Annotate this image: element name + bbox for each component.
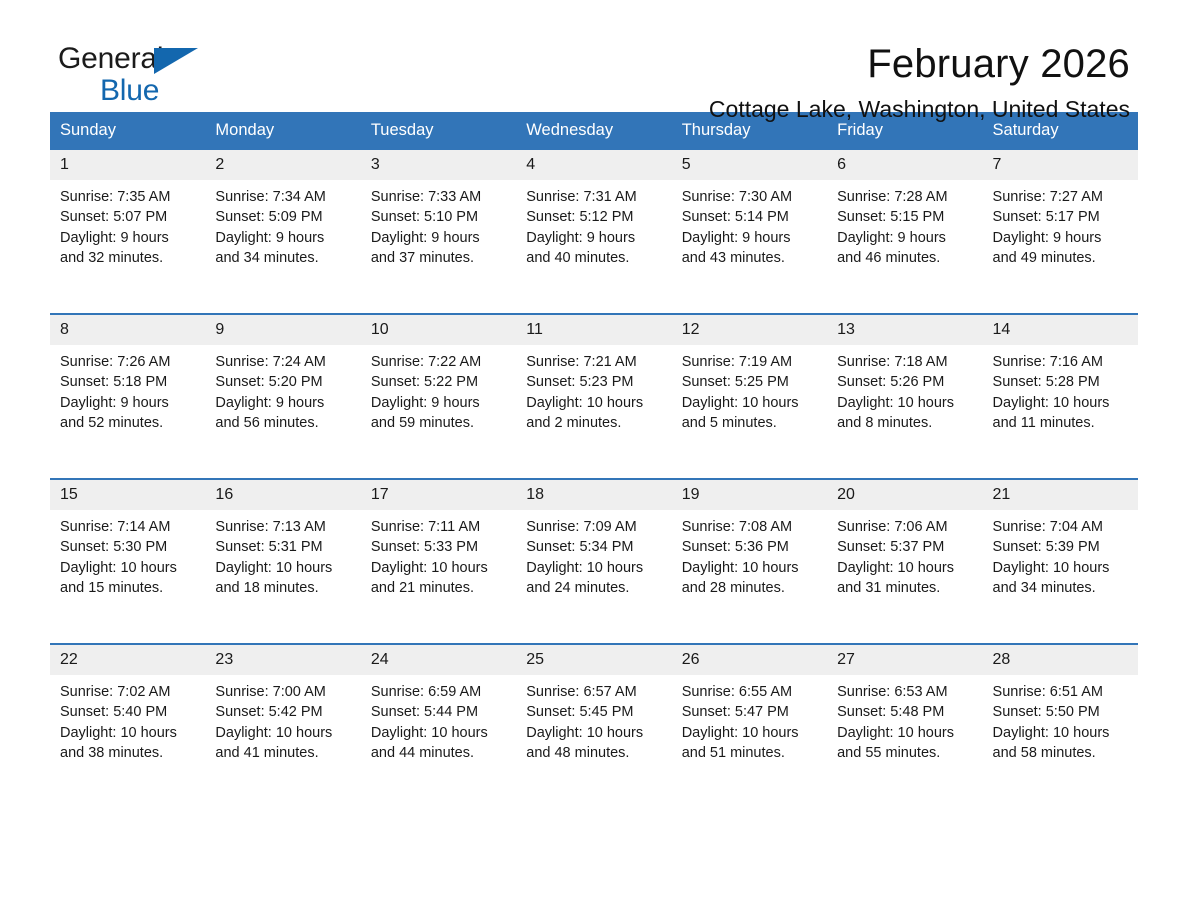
- daylight-text-line2: and 44 minutes.: [371, 743, 508, 763]
- day-cell[interactable]: 17 Sunrise: 7:11 AM Sunset: 5:33 PM Dayl…: [361, 479, 516, 644]
- sunset-text: Sunset: 5:33 PM: [371, 537, 508, 557]
- sunset-text: Sunset: 5:37 PM: [837, 537, 974, 557]
- sunset-text: Sunset: 5:22 PM: [371, 372, 508, 392]
- calendar-week-row: 1 Sunrise: 7:35 AM Sunset: 5:07 PM Dayli…: [50, 149, 1138, 314]
- day-details: Sunrise: 7:11 AM Sunset: 5:33 PM Dayligh…: [361, 510, 516, 598]
- day-cell[interactable]: 18 Sunrise: 7:09 AM Sunset: 5:34 PM Dayl…: [516, 479, 671, 644]
- sunrise-text: Sunrise: 6:51 AM: [993, 682, 1130, 702]
- daylight-text-line2: and 2 minutes.: [526, 413, 663, 433]
- day-number: 11: [516, 315, 671, 345]
- sunset-text: Sunset: 5:23 PM: [526, 372, 663, 392]
- daylight-text-line2: and 51 minutes.: [682, 743, 819, 763]
- weekday-header-monday: Monday: [205, 112, 360, 149]
- sunrise-text: Sunrise: 7:21 AM: [526, 352, 663, 372]
- daylight-text-line1: Daylight: 9 hours: [993, 228, 1130, 248]
- sunrise-text: Sunrise: 6:59 AM: [371, 682, 508, 702]
- daylight-text-line1: Daylight: 9 hours: [371, 228, 508, 248]
- sunrise-text: Sunrise: 7:13 AM: [215, 517, 352, 537]
- day-details: Sunrise: 7:21 AM Sunset: 5:23 PM Dayligh…: [516, 345, 671, 433]
- day-cell[interactable]: 14 Sunrise: 7:16 AM Sunset: 5:28 PM Dayl…: [983, 314, 1138, 479]
- daylight-text-line2: and 56 minutes.: [215, 413, 352, 433]
- daylight-text-line1: Daylight: 10 hours: [526, 393, 663, 413]
- day-number: 16: [205, 480, 360, 510]
- daylight-text-line2: and 58 minutes.: [993, 743, 1130, 763]
- daylight-text-line2: and 59 minutes.: [371, 413, 508, 433]
- sunset-text: Sunset: 5:25 PM: [682, 372, 819, 392]
- sunrise-text: Sunrise: 7:28 AM: [837, 187, 974, 207]
- day-number: 1: [50, 150, 205, 180]
- daylight-text-line1: Daylight: 10 hours: [371, 723, 508, 743]
- sunset-text: Sunset: 5:12 PM: [526, 207, 663, 227]
- day-details: Sunrise: 7:06 AM Sunset: 5:37 PM Dayligh…: [827, 510, 982, 598]
- daylight-text-line1: Daylight: 10 hours: [682, 393, 819, 413]
- sunset-text: Sunset: 5:40 PM: [60, 702, 197, 722]
- day-cell[interactable]: 21 Sunrise: 7:04 AM Sunset: 5:39 PM Dayl…: [983, 479, 1138, 644]
- day-number: 13: [827, 315, 982, 345]
- calendar-page: General Blue February 2026 Cottage Lake,…: [0, 0, 1188, 918]
- daylight-text-line2: and 18 minutes.: [215, 578, 352, 598]
- sunset-text: Sunset: 5:36 PM: [682, 537, 819, 557]
- daylight-text-line1: Daylight: 10 hours: [215, 558, 352, 578]
- sunrise-sunset-calendar: Sunday Monday Tuesday Wednesday Thursday…: [50, 112, 1138, 808]
- day-number: 18: [516, 480, 671, 510]
- sunrise-text: Sunrise: 6:57 AM: [526, 682, 663, 702]
- day-details: Sunrise: 7:27 AM Sunset: 5:17 PM Dayligh…: [983, 180, 1138, 268]
- sunrise-text: Sunrise: 7:02 AM: [60, 682, 197, 702]
- sunrise-text: Sunrise: 7:30 AM: [682, 187, 819, 207]
- day-details: Sunrise: 6:57 AM Sunset: 5:45 PM Dayligh…: [516, 675, 671, 763]
- day-number: 20: [827, 480, 982, 510]
- sunrise-text: Sunrise: 6:55 AM: [682, 682, 819, 702]
- daylight-text-line1: Daylight: 10 hours: [682, 558, 819, 578]
- day-number: 10: [361, 315, 516, 345]
- day-cell[interactable]: 20 Sunrise: 7:06 AM Sunset: 5:37 PM Dayl…: [827, 479, 982, 644]
- daylight-text-line2: and 52 minutes.: [60, 413, 197, 433]
- day-cell[interactable]: 3 Sunrise: 7:33 AM Sunset: 5:10 PM Dayli…: [361, 149, 516, 314]
- day-number: 17: [361, 480, 516, 510]
- day-cell[interactable]: 23 Sunrise: 7:00 AM Sunset: 5:42 PM Dayl…: [205, 644, 360, 808]
- daylight-text-line1: Daylight: 10 hours: [526, 723, 663, 743]
- daylight-text-line2: and 31 minutes.: [837, 578, 974, 598]
- daylight-text-line1: Daylight: 9 hours: [682, 228, 819, 248]
- logo-top-row: General: [58, 42, 258, 76]
- day-details: Sunrise: 7:16 AM Sunset: 5:28 PM Dayligh…: [983, 345, 1138, 433]
- day-details: Sunrise: 7:04 AM Sunset: 5:39 PM Dayligh…: [983, 510, 1138, 598]
- day-details: Sunrise: 7:00 AM Sunset: 5:42 PM Dayligh…: [205, 675, 360, 763]
- sunrise-text: Sunrise: 7:27 AM: [993, 187, 1130, 207]
- sunrise-text: Sunrise: 7:35 AM: [60, 187, 197, 207]
- daylight-text-line1: Daylight: 9 hours: [371, 393, 508, 413]
- weekday-header-sunday: Sunday: [50, 112, 205, 149]
- sunset-text: Sunset: 5:09 PM: [215, 207, 352, 227]
- daylight-text-line1: Daylight: 9 hours: [215, 393, 352, 413]
- day-number: 14: [983, 315, 1138, 345]
- sunrise-text: Sunrise: 7:19 AM: [682, 352, 819, 372]
- sunset-text: Sunset: 5:48 PM: [837, 702, 974, 722]
- logo-triangle-icon: [154, 48, 198, 74]
- day-details: Sunrise: 7:09 AM Sunset: 5:34 PM Dayligh…: [516, 510, 671, 598]
- weekday-header-wednesday: Wednesday: [516, 112, 671, 149]
- day-details: Sunrise: 7:35 AM Sunset: 5:07 PM Dayligh…: [50, 180, 205, 268]
- daylight-text-line1: Daylight: 10 hours: [837, 393, 974, 413]
- calendar-week-row: 22 Sunrise: 7:02 AM Sunset: 5:40 PM Dayl…: [50, 644, 1138, 808]
- day-number: 21: [983, 480, 1138, 510]
- day-number: 23: [205, 645, 360, 675]
- day-details: Sunrise: 7:30 AM Sunset: 5:14 PM Dayligh…: [672, 180, 827, 268]
- day-number: 15: [50, 480, 205, 510]
- title-block: February 2026 Cottage Lake, Washington, …: [709, 40, 1130, 124]
- day-cell[interactable]: 7 Sunrise: 7:27 AM Sunset: 5:17 PM Dayli…: [983, 149, 1138, 314]
- daylight-text-line1: Daylight: 10 hours: [371, 558, 508, 578]
- sunrise-text: Sunrise: 7:00 AM: [215, 682, 352, 702]
- daylight-text-line2: and 49 minutes.: [993, 248, 1130, 268]
- day-cell[interactable]: 8 Sunrise: 7:26 AM Sunset: 5:18 PM Dayli…: [50, 314, 205, 479]
- daylight-text-line2: and 40 minutes.: [526, 248, 663, 268]
- daylight-text-line2: and 21 minutes.: [371, 578, 508, 598]
- sunset-text: Sunset: 5:47 PM: [682, 702, 819, 722]
- daylight-text-line1: Daylight: 10 hours: [993, 558, 1130, 578]
- daylight-text-line2: and 24 minutes.: [526, 578, 663, 598]
- daylight-text-line2: and 46 minutes.: [837, 248, 974, 268]
- day-number: 24: [361, 645, 516, 675]
- calendar-week-row: 8 Sunrise: 7:26 AM Sunset: 5:18 PM Dayli…: [50, 314, 1138, 479]
- daylight-text-line2: and 11 minutes.: [993, 413, 1130, 433]
- day-number: 12: [672, 315, 827, 345]
- sunset-text: Sunset: 5:44 PM: [371, 702, 508, 722]
- sunrise-text: Sunrise: 7:33 AM: [371, 187, 508, 207]
- day-number: 25: [516, 645, 671, 675]
- daylight-text-line1: Daylight: 10 hours: [682, 723, 819, 743]
- daylight-text-line2: and 28 minutes.: [682, 578, 819, 598]
- sunset-text: Sunset: 5:30 PM: [60, 537, 197, 557]
- daylight-text-line2: and 34 minutes.: [993, 578, 1130, 598]
- day-cell[interactable]: 16 Sunrise: 7:13 AM Sunset: 5:31 PM Dayl…: [205, 479, 360, 644]
- day-number: 28: [983, 645, 1138, 675]
- day-number: 22: [50, 645, 205, 675]
- day-details: Sunrise: 7:08 AM Sunset: 5:36 PM Dayligh…: [672, 510, 827, 598]
- day-details: Sunrise: 7:26 AM Sunset: 5:18 PM Dayligh…: [50, 345, 205, 433]
- sunrise-text: Sunrise: 7:04 AM: [993, 517, 1130, 537]
- daylight-text-line1: Daylight: 9 hours: [526, 228, 663, 248]
- day-details: Sunrise: 7:02 AM Sunset: 5:40 PM Dayligh…: [50, 675, 205, 763]
- sunrise-text: Sunrise: 7:11 AM: [371, 517, 508, 537]
- day-number: 19: [672, 480, 827, 510]
- day-cell[interactable]: 10 Sunrise: 7:22 AM Sunset: 5:22 PM Dayl…: [361, 314, 516, 479]
- daylight-text-line2: and 15 minutes.: [60, 578, 197, 598]
- day-number: 6: [827, 150, 982, 180]
- day-cell[interactable]: 2 Sunrise: 7:34 AM Sunset: 5:09 PM Dayli…: [205, 149, 360, 314]
- sunset-text: Sunset: 5:34 PM: [526, 537, 663, 557]
- calendar-week-row: 15 Sunrise: 7:14 AM Sunset: 5:30 PM Dayl…: [50, 479, 1138, 644]
- day-cell[interactable]: 26 Sunrise: 6:55 AM Sunset: 5:47 PM Dayl…: [672, 644, 827, 808]
- day-cell[interactable]: 19 Sunrise: 7:08 AM Sunset: 5:36 PM Dayl…: [672, 479, 827, 644]
- day-cell[interactable]: 6 Sunrise: 7:28 AM Sunset: 5:15 PM Dayli…: [827, 149, 982, 314]
- day-cell[interactable]: 1 Sunrise: 7:35 AM Sunset: 5:07 PM Dayli…: [50, 149, 205, 314]
- calendar-body: 1 Sunrise: 7:35 AM Sunset: 5:07 PM Dayli…: [50, 149, 1138, 808]
- sunset-text: Sunset: 5:15 PM: [837, 207, 974, 227]
- daylight-text-line1: Daylight: 10 hours: [526, 558, 663, 578]
- day-number: 26: [672, 645, 827, 675]
- sunrise-text: Sunrise: 7:31 AM: [526, 187, 663, 207]
- day-cell[interactable]: 5 Sunrise: 7:30 AM Sunset: 5:14 PM Dayli…: [672, 149, 827, 314]
- day-number: 27: [827, 645, 982, 675]
- day-details: Sunrise: 7:13 AM Sunset: 5:31 PM Dayligh…: [205, 510, 360, 598]
- day-details: Sunrise: 7:28 AM Sunset: 5:15 PM Dayligh…: [827, 180, 982, 268]
- sunset-text: Sunset: 5:07 PM: [60, 207, 197, 227]
- sunset-text: Sunset: 5:50 PM: [993, 702, 1130, 722]
- day-cell[interactable]: 25 Sunrise: 6:57 AM Sunset: 5:45 PM Dayl…: [516, 644, 671, 808]
- daylight-text-line1: Daylight: 10 hours: [60, 558, 197, 578]
- day-details: Sunrise: 6:53 AM Sunset: 5:48 PM Dayligh…: [827, 675, 982, 763]
- day-cell[interactable]: 13 Sunrise: 7:18 AM Sunset: 5:26 PM Dayl…: [827, 314, 982, 479]
- sunrise-text: Sunrise: 7:08 AM: [682, 517, 819, 537]
- sunrise-text: Sunrise: 6:53 AM: [837, 682, 974, 702]
- day-cell[interactable]: 12 Sunrise: 7:19 AM Sunset: 5:25 PM Dayl…: [672, 314, 827, 479]
- day-details: Sunrise: 6:59 AM Sunset: 5:44 PM Dayligh…: [361, 675, 516, 763]
- day-cell[interactable]: 27 Sunrise: 6:53 AM Sunset: 5:48 PM Dayl…: [827, 644, 982, 808]
- daylight-text-line1: Daylight: 9 hours: [60, 393, 197, 413]
- daylight-text-line1: Daylight: 9 hours: [60, 228, 197, 248]
- daylight-text-line1: Daylight: 9 hours: [215, 228, 352, 248]
- day-details: Sunrise: 7:31 AM Sunset: 5:12 PM Dayligh…: [516, 180, 671, 268]
- day-details: Sunrise: 7:22 AM Sunset: 5:22 PM Dayligh…: [361, 345, 516, 433]
- day-details: Sunrise: 7:18 AM Sunset: 5:26 PM Dayligh…: [827, 345, 982, 433]
- sunrise-text: Sunrise: 7:09 AM: [526, 517, 663, 537]
- day-details: Sunrise: 7:34 AM Sunset: 5:09 PM Dayligh…: [205, 180, 360, 268]
- day-number: 3: [361, 150, 516, 180]
- daylight-text-line2: and 43 minutes.: [682, 248, 819, 268]
- day-details: Sunrise: 7:24 AM Sunset: 5:20 PM Dayligh…: [205, 345, 360, 433]
- sunrise-text: Sunrise: 7:18 AM: [837, 352, 974, 372]
- day-cell[interactable]: 9 Sunrise: 7:24 AM Sunset: 5:20 PM Dayli…: [205, 314, 360, 479]
- day-number: 8: [50, 315, 205, 345]
- page-subtitle: Cottage Lake, Washington, United States: [709, 94, 1130, 124]
- sunset-text: Sunset: 5:39 PM: [993, 537, 1130, 557]
- sunrise-text: Sunrise: 7:06 AM: [837, 517, 974, 537]
- daylight-text-line1: Daylight: 10 hours: [837, 723, 974, 743]
- sunset-text: Sunset: 5:26 PM: [837, 372, 974, 392]
- day-cell[interactable]: 24 Sunrise: 6:59 AM Sunset: 5:44 PM Dayl…: [361, 644, 516, 808]
- daylight-text-line2: and 34 minutes.: [215, 248, 352, 268]
- day-cell[interactable]: 15 Sunrise: 7:14 AM Sunset: 5:30 PM Dayl…: [50, 479, 205, 644]
- weekday-header-tuesday: Tuesday: [361, 112, 516, 149]
- sunrise-text: Sunrise: 7:34 AM: [215, 187, 352, 207]
- day-cell[interactable]: 28 Sunrise: 6:51 AM Sunset: 5:50 PM Dayl…: [983, 644, 1138, 808]
- day-number: 9: [205, 315, 360, 345]
- day-cell[interactable]: 22 Sunrise: 7:02 AM Sunset: 5:40 PM Dayl…: [50, 644, 205, 808]
- day-details: Sunrise: 7:19 AM Sunset: 5:25 PM Dayligh…: [672, 345, 827, 433]
- logo-text-blue: Blue: [100, 74, 159, 107]
- sunset-text: Sunset: 5:45 PM: [526, 702, 663, 722]
- daylight-text-line2: and 41 minutes.: [215, 743, 352, 763]
- sunset-text: Sunset: 5:18 PM: [60, 372, 197, 392]
- daylight-text-line2: and 5 minutes.: [682, 413, 819, 433]
- daylight-text-line1: Daylight: 10 hours: [215, 723, 352, 743]
- logo-text-general: General: [58, 42, 163, 75]
- sunset-text: Sunset: 5:14 PM: [682, 207, 819, 227]
- daylight-text-line1: Daylight: 10 hours: [993, 723, 1130, 743]
- day-details: Sunrise: 6:55 AM Sunset: 5:47 PM Dayligh…: [672, 675, 827, 763]
- day-cell[interactable]: 11 Sunrise: 7:21 AM Sunset: 5:23 PM Dayl…: [516, 314, 671, 479]
- sunset-text: Sunset: 5:42 PM: [215, 702, 352, 722]
- page-title: February 2026: [709, 40, 1130, 88]
- sunset-text: Sunset: 5:28 PM: [993, 372, 1130, 392]
- logo-bottom-row: Blue: [58, 74, 258, 108]
- sunrise-text: Sunrise: 7:26 AM: [60, 352, 197, 372]
- daylight-text-line1: Daylight: 9 hours: [837, 228, 974, 248]
- daylight-text-line2: and 32 minutes.: [60, 248, 197, 268]
- daylight-text-line2: and 8 minutes.: [837, 413, 974, 433]
- day-cell[interactable]: 4 Sunrise: 7:31 AM Sunset: 5:12 PM Dayli…: [516, 149, 671, 314]
- daylight-text-line2: and 38 minutes.: [60, 743, 197, 763]
- sunset-text: Sunset: 5:20 PM: [215, 372, 352, 392]
- day-number: 2: [205, 150, 360, 180]
- sunrise-text: Sunrise: 7:24 AM: [215, 352, 352, 372]
- daylight-text-line2: and 37 minutes.: [371, 248, 508, 268]
- day-details: Sunrise: 7:33 AM Sunset: 5:10 PM Dayligh…: [361, 180, 516, 268]
- sunrise-text: Sunrise: 7:14 AM: [60, 517, 197, 537]
- sunrise-text: Sunrise: 7:22 AM: [371, 352, 508, 372]
- daylight-text-line2: and 48 minutes.: [526, 743, 663, 763]
- sunrise-text: Sunrise: 7:16 AM: [993, 352, 1130, 372]
- daylight-text-line2: and 55 minutes.: [837, 743, 974, 763]
- sunset-text: Sunset: 5:17 PM: [993, 207, 1130, 227]
- general-blue-logo[interactable]: General Blue: [58, 42, 258, 112]
- daylight-text-line1: Daylight: 10 hours: [993, 393, 1130, 413]
- day-number: 5: [672, 150, 827, 180]
- sunset-text: Sunset: 5:10 PM: [371, 207, 508, 227]
- day-details: Sunrise: 6:51 AM Sunset: 5:50 PM Dayligh…: [983, 675, 1138, 763]
- day-number: 7: [983, 150, 1138, 180]
- daylight-text-line1: Daylight: 10 hours: [60, 723, 197, 743]
- sunset-text: Sunset: 5:31 PM: [215, 537, 352, 557]
- daylight-text-line1: Daylight: 10 hours: [837, 558, 974, 578]
- day-details: Sunrise: 7:14 AM Sunset: 5:30 PM Dayligh…: [50, 510, 205, 598]
- day-number: 4: [516, 150, 671, 180]
- page-masthead: General Blue February 2026 Cottage Lake,…: [50, 0, 1138, 112]
